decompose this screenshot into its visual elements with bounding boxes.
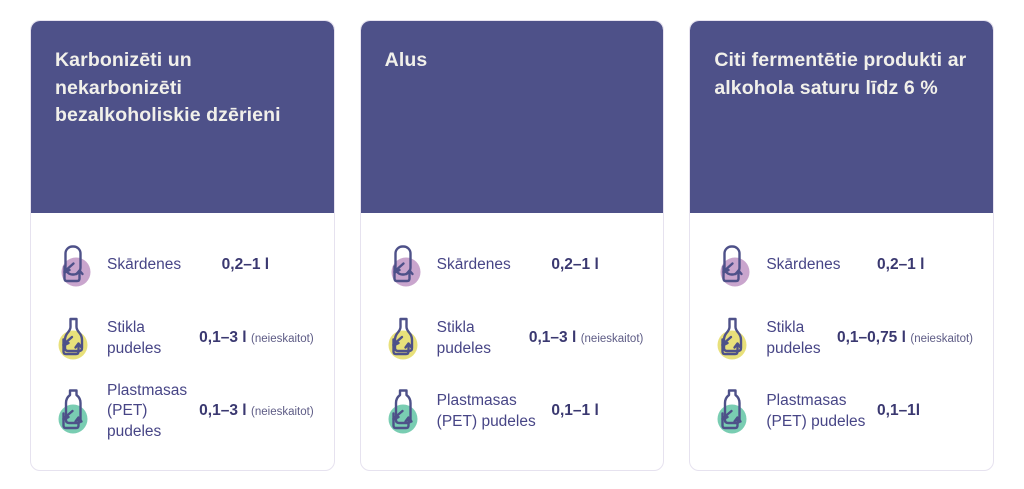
can-recycle-icon: [710, 241, 756, 291]
packaging-row: Plastmasas (PET) pudeles 0,1–1l: [710, 375, 973, 448]
packaging-label: Stikla pudeles: [766, 318, 837, 359]
volume-amount: 0,1–3 l: [199, 329, 246, 346]
pet-bottle-recycle-icon: [381, 387, 427, 437]
volume-amount: 0,1–3 l: [199, 402, 246, 419]
packaging-volume: 0,2–1 l: [551, 256, 643, 275]
volume-note: (neieskaitot): [251, 406, 314, 418]
volume-amount: 0,2–1 l: [222, 256, 269, 273]
card-body: Skārdenes 0,2–1 l Stikla pudeles: [361, 213, 664, 470]
packaging-label: Stikla pudeles: [437, 318, 529, 359]
pet-bottle-recycle-icon: [51, 387, 97, 437]
category-card: Citi fermentētie produkti ar alkohola sa…: [689, 20, 994, 471]
packaging-label: Skārdenes: [437, 255, 552, 276]
category-card: Alus Skārdenes 0,2–1 l: [360, 20, 665, 471]
pet-bottle-recycle-icon: [710, 387, 756, 437]
packaging-volume: 0,1–1l: [877, 402, 973, 421]
volume-note: (neieskaitot): [581, 333, 644, 345]
card-body: Skārdenes 0,2–1 l Stikla pudeles: [31, 213, 334, 470]
packaging-label: Plastmasas (PET) pudeles: [437, 391, 552, 432]
card-title: Citi fermentētie produkti ar alkohola sa…: [714, 47, 969, 102]
glass-bottle-recycle-icon: [51, 314, 97, 364]
packaging-row: Stikla pudeles 0,1–3 l (neieskaitot): [381, 302, 644, 375]
packaging-label: Skārdenes: [766, 255, 877, 276]
card-header: Citi fermentētie produkti ar alkohola sa…: [690, 21, 993, 213]
volume-amount: 0,2–1 l: [877, 256, 924, 273]
card-body: Skārdenes 0,2–1 l Stikla pudeles: [690, 213, 993, 470]
packaging-volume: 0,1–3 l (neieskaitot): [199, 329, 314, 348]
packaging-row: Skārdenes 0,2–1 l: [710, 229, 973, 302]
packaging-volume: 0,1–1 l: [551, 402, 643, 421]
glass-bottle-recycle-icon: [710, 314, 756, 364]
card-title: Alus: [385, 47, 640, 75]
packaging-volume: 0,2–1 l: [877, 256, 973, 275]
packaging-volume: 0,1–0,75 l (neieskaitot): [837, 329, 973, 348]
can-recycle-icon: [381, 241, 427, 291]
volume-note: (neieskaitot): [251, 333, 314, 345]
glass-bottle-recycle-icon: [381, 314, 427, 364]
category-card: Karbonizēti un nekarbonizēti bezalkoholi…: [30, 20, 335, 471]
packaging-volume: 0,2–1 l: [222, 256, 314, 275]
card-header: Alus: [361, 21, 664, 213]
packaging-label: Plastmasas (PET) pudeles: [766, 391, 877, 432]
volume-amount: 0,1–1 l: [551, 402, 598, 419]
packaging-row: Plastmasas (PET) pudeles 0,1–3 l (neiesk…: [51, 375, 314, 448]
packaging-label: Skārdenes: [107, 255, 222, 276]
volume-note: (neieskaitot): [910, 333, 973, 345]
volume-amount: 0,1–1l: [877, 402, 920, 419]
packaging-label: Plastmasas (PET) pudeles: [107, 381, 199, 443]
packaging-volume: 0,1–3 l (neieskaitot): [199, 402, 314, 421]
packaging-row: Stikla pudeles 0,1–3 l (neieskaitot): [51, 302, 314, 375]
packaging-row: Stikla pudeles 0,1–0,75 l (neieskaitot): [710, 302, 973, 375]
card-title: Karbonizēti un nekarbonizēti bezalkoholi…: [55, 47, 310, 130]
packaging-volume: 0,1–3 l (neieskaitot): [529, 329, 644, 348]
card-header: Karbonizēti un nekarbonizēti bezalkoholi…: [31, 21, 334, 213]
volume-amount: 0,2–1 l: [551, 256, 598, 273]
packaging-row: Plastmasas (PET) pudeles 0,1–1 l: [381, 375, 644, 448]
can-recycle-icon: [51, 241, 97, 291]
packaging-label: Stikla pudeles: [107, 318, 199, 359]
deposit-packaging-infographic: Karbonizēti un nekarbonizēti bezalkoholi…: [0, 0, 1024, 489]
packaging-row: Skārdenes 0,2–1 l: [51, 229, 314, 302]
volume-amount: 0,1–3 l: [529, 329, 576, 346]
volume-amount: 0,1–0,75 l: [837, 329, 906, 346]
packaging-row: Skārdenes 0,2–1 l: [381, 229, 644, 302]
